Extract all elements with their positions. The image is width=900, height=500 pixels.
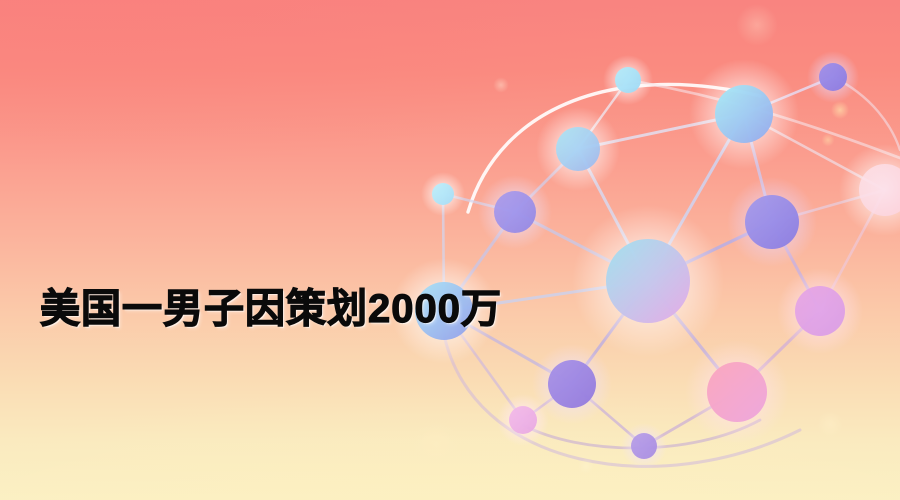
- sparkle: [578, 458, 594, 474]
- network-node: [745, 195, 799, 249]
- network-node: [715, 85, 773, 143]
- network-node: [556, 127, 600, 171]
- network-node: [631, 433, 657, 459]
- network-node: [707, 362, 767, 422]
- network-node: [615, 67, 641, 93]
- network-node: [819, 63, 847, 91]
- cover-image-stage: 美国一男子因策划2000万 美元加密货币诈骗案,被判 处23年监禁: [0, 0, 900, 500]
- sparkle: [831, 101, 849, 119]
- network-node: [795, 286, 845, 336]
- sparkle: [736, 4, 778, 46]
- headline: 美国一男子因策划2000万 美元加密货币诈骗案,被判 处23年监禁: [40, 104, 560, 500]
- sparkle: [817, 411, 843, 437]
- headline-line-1: 美国一男子因策划2000万: [40, 268, 560, 350]
- sparkle: [822, 134, 835, 147]
- network-node: [606, 239, 690, 323]
- sparkle: [493, 77, 509, 93]
